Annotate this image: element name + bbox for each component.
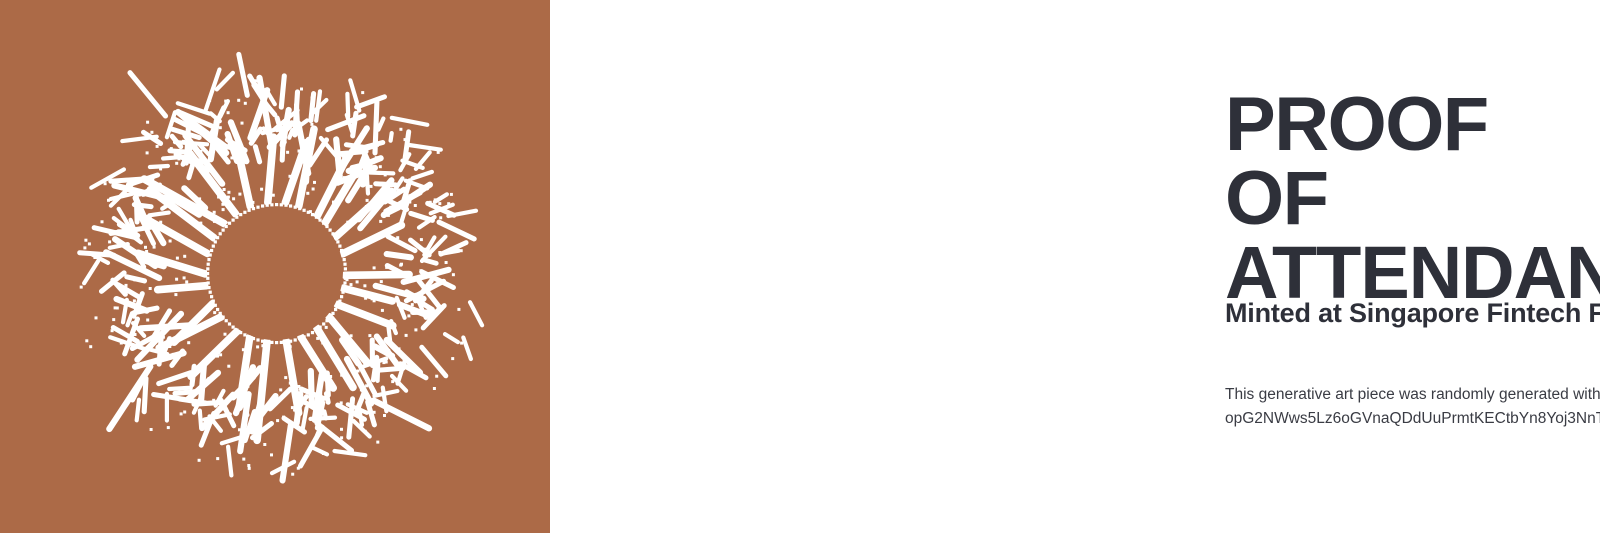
page-title: PROOF OF ATTENDANCE	[1225, 88, 1600, 310]
artwork-panel	[0, 0, 550, 533]
description-intro: This generative art piece was randomly g…	[1225, 386, 1600, 403]
blockchain-hash: opG2NWws5Lz6oGVnaQDdUuPrmtKECtbYn8Yoj3Nn…	[1225, 407, 1600, 431]
content-panel: PROOF OF ATTENDANCE Minted at Singapore …	[550, 0, 1600, 533]
generative-art-svg	[0, 0, 550, 533]
description-block: This generative art piece was randomly g…	[1225, 383, 1600, 431]
subtitle: Minted at Singapore Fintech Festival 202…	[1225, 296, 1600, 330]
title-line-1: PROOF	[1225, 88, 1600, 162]
poap-certificate: PROOF OF ATTENDANCE Minted at Singapore …	[0, 0, 1600, 533]
title-line-2: OF	[1225, 162, 1600, 236]
